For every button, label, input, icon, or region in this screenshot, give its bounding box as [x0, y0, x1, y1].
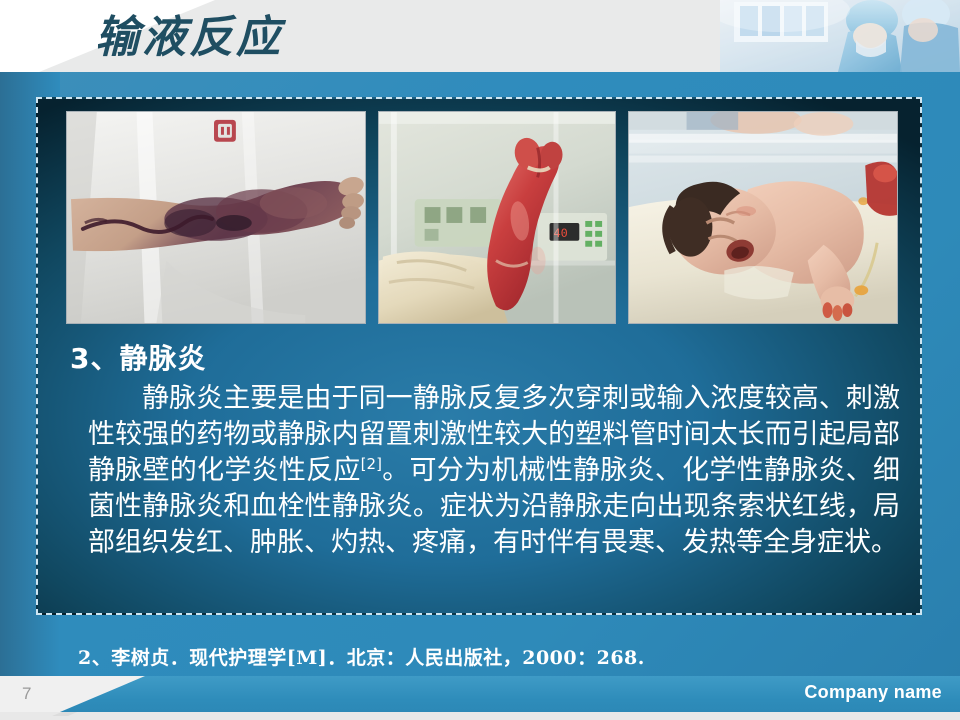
footer-baseline	[0, 712, 960, 720]
page-number: 7	[22, 684, 31, 704]
photo-infant-inflamed-foot: 40	[378, 111, 616, 324]
page-title: 输液反应	[95, 12, 283, 65]
photo-newborn-incubator	[628, 111, 898, 324]
section-heading: 3、静脉炎	[70, 337, 206, 377]
photo-leg-phlebitis	[66, 111, 366, 324]
citation-superscript: [2]	[361, 455, 382, 473]
section-body: 静脉炎主要是由于同一静脉反复多次穿刺或输入浓度较高、刺激性较强的药物或静脉内留置…	[88, 381, 900, 561]
content-panel: 40	[36, 97, 922, 615]
photo-row: 40	[66, 111, 898, 324]
slide: 输液反应	[0, 0, 960, 720]
footer: 7 Company name	[0, 676, 960, 720]
reference-citation: 2、李树贞．现代护理学[M]．北京：人民出版社，2000：268.	[78, 643, 645, 670]
header-surgery-photo	[720, 0, 960, 72]
company-name: Company name	[804, 682, 942, 703]
